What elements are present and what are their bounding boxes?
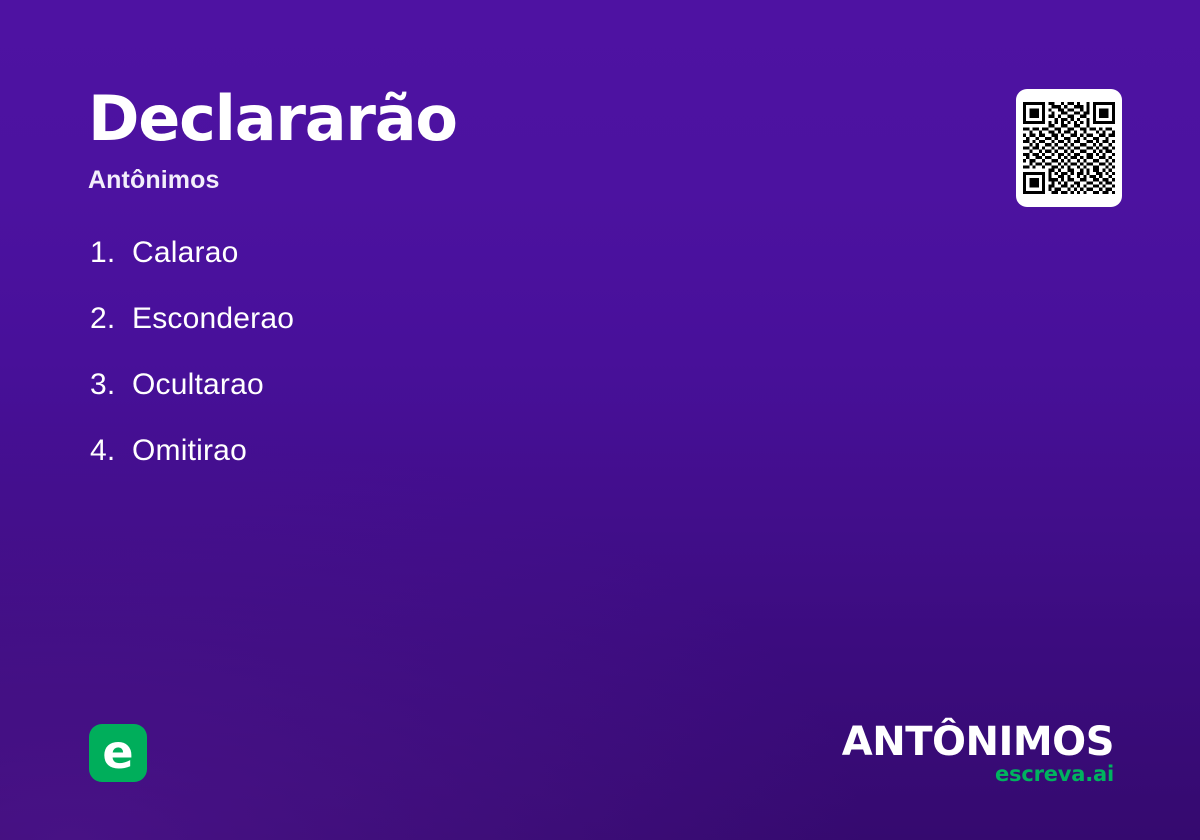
wordmark-domain: escreva.ai xyxy=(842,764,1114,785)
list-item-index: 4. xyxy=(90,434,132,468)
list-item-index: 2. xyxy=(90,302,132,336)
list-item: 2.Esconderao xyxy=(90,302,790,368)
page-subtitle: Antônimos xyxy=(88,166,728,195)
list-item: 3.Ocultarao xyxy=(90,368,790,434)
qr-code-container[interactable] xyxy=(1016,89,1122,207)
list-item-word: Calarao xyxy=(132,236,238,270)
list-item: 4.Omitirao xyxy=(90,434,790,500)
word-list: 1.Calarao2.Esconderao3.Ocultarao4.Omitir… xyxy=(90,236,790,500)
list-item: 1.Calarao xyxy=(90,236,790,302)
list-item-word: Omitirao xyxy=(132,434,247,468)
escreva-logo-letter: e xyxy=(102,729,133,775)
poster-card: Declararão Antônimos 1.Calarao2.Esconder… xyxy=(0,0,1200,840)
qr-code-icon[interactable] xyxy=(1023,102,1115,194)
list-item-word: Esconderao xyxy=(132,302,294,336)
page-title: Declararão xyxy=(88,88,728,150)
header: Declararão Antônimos xyxy=(88,88,728,195)
list-item-index: 1. xyxy=(90,236,132,270)
escreva-logo[interactable]: e xyxy=(89,724,147,782)
list-item-word: Ocultarao xyxy=(132,368,264,402)
list-item-index: 3. xyxy=(90,368,132,402)
wordmark-title: ANTÔNIMOS xyxy=(842,722,1114,762)
brand-wordmark: ANTÔNIMOS escreva.ai xyxy=(842,722,1114,785)
